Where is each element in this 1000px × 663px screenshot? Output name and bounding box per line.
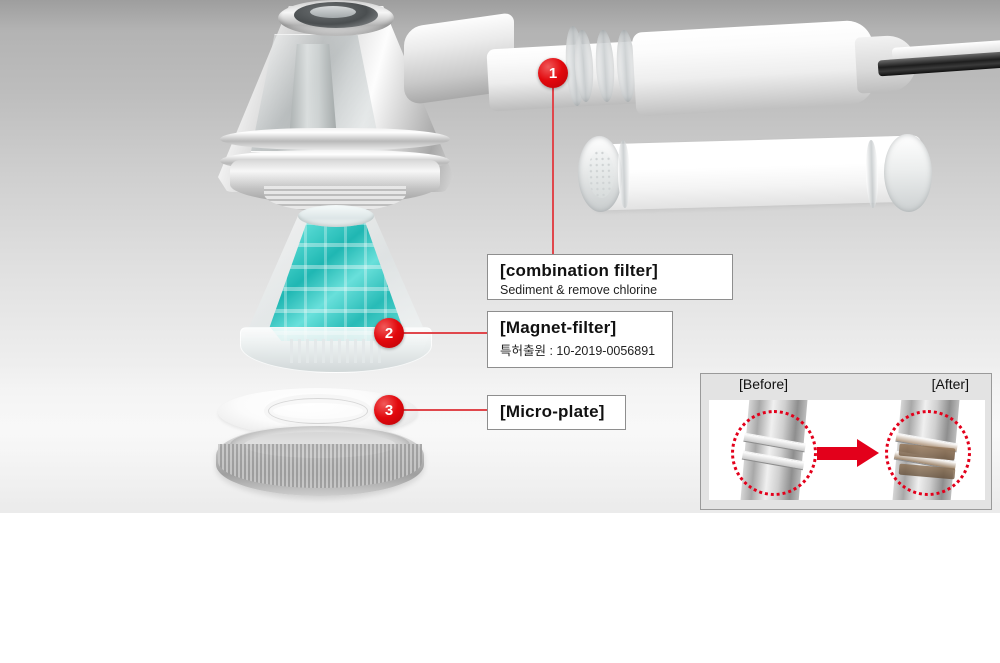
highlight-circle-before xyxy=(731,410,817,496)
micro-plate-rings xyxy=(268,398,368,424)
callout-title-combination-filter: [combination filter] xyxy=(500,261,722,281)
callout-micro-plate: [Micro-plate] xyxy=(487,395,626,430)
leader-line-1 xyxy=(552,72,554,255)
callout-badge-3[interactable]: 3 xyxy=(374,395,404,425)
before-label: [Before] xyxy=(739,376,788,392)
callout-badge-2[interactable]: 2 xyxy=(374,318,404,348)
callout-title-magnet-filter: [Magnet-filter] xyxy=(500,318,662,338)
magnet-filter-teeth xyxy=(290,339,382,363)
leader-line-3 xyxy=(398,409,488,411)
callout-subtitle-magnet-filter: 특허출원 : 10-2019-0056891 xyxy=(500,340,662,359)
callout-badge-1[interactable]: 1 xyxy=(538,58,568,88)
infographic-root: 1 2 3 [combination filter] Sediment & re… xyxy=(0,0,1000,663)
before-after-panel: [Before] [After] xyxy=(700,373,992,510)
leader-line-2 xyxy=(398,332,488,334)
callout-subtitle-combination-filter: Sediment & remove chlorine xyxy=(500,283,722,297)
magnet-filter-lid xyxy=(298,205,374,227)
shower-head-band-upper xyxy=(220,128,450,150)
before-after-arrow-icon xyxy=(817,442,879,464)
magnet-filter-part xyxy=(238,205,434,375)
after-label: [After] xyxy=(932,376,969,392)
handle-grip xyxy=(632,19,876,116)
callout-combination-filter: [combination filter] Sediment & remove c… xyxy=(487,254,733,300)
before-after-labels: [Before] [After] xyxy=(701,374,991,398)
highlight-circle-after xyxy=(885,410,971,496)
callout-title-micro-plate: [Micro-plate] xyxy=(500,402,605,422)
shower-head-cap-highlight xyxy=(310,6,356,18)
callout-magnet-filter: [Magnet-filter] 특허출원 : 10-2019-0056891 xyxy=(487,311,673,368)
before-after-image xyxy=(709,400,985,500)
process-strip: Better water process 1 정수 녹물제거 염소제거 2 연수… xyxy=(0,513,1000,663)
